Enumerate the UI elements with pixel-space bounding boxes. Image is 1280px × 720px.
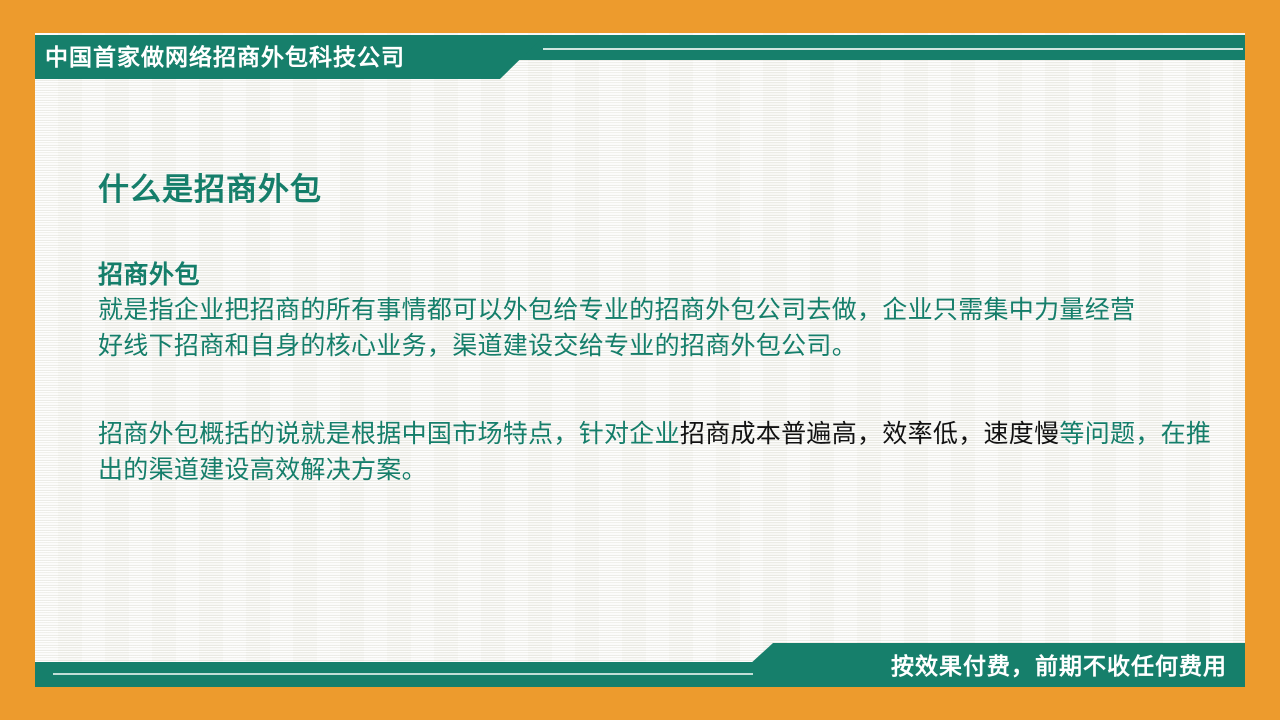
slide-content: 什么是招商外包 招商外包 就是指企业把招商的所有事情都可以外包给专业的招商外包公… xyxy=(98,170,1218,488)
lead-label: 招商外包 xyxy=(98,258,1218,292)
footer-tagline: 按效果付费，前期不收任何费用 xyxy=(891,643,1227,687)
slide: 中国首家做网络招商外包科技公司 什么是招商外包 招商外包 就是指企业把招商的所有… xyxy=(0,0,1280,720)
body-paragraph-2: 招商外包概括的说就是根据中国市场特点，针对企业招商成本普遍高，效率低，速度慢等问… xyxy=(98,416,1213,488)
paragraph-2-highlight: 招商成本普遍高，效率低，速度慢 xyxy=(680,420,1060,448)
body-paragraph-1: 就是指企业把招商的所有事情都可以外包给专业的招商外包公司去做，企业只需集中力量经… xyxy=(98,292,1153,364)
header-hairline-divider xyxy=(543,48,1243,50)
footer-hairline-divider xyxy=(53,673,753,675)
header-band: 中国首家做网络招商外包科技公司 xyxy=(35,35,1245,79)
header-title: 中国首家做网络招商外包科技公司 xyxy=(45,35,405,79)
footer-band: 按效果付费，前期不收任何费用 xyxy=(35,643,1245,687)
slide-title: 什么是招商外包 xyxy=(98,170,1218,210)
paragraph-2-part-1: 招商外包概括的说就是根据中国市场特点，针对企业 xyxy=(98,420,680,448)
